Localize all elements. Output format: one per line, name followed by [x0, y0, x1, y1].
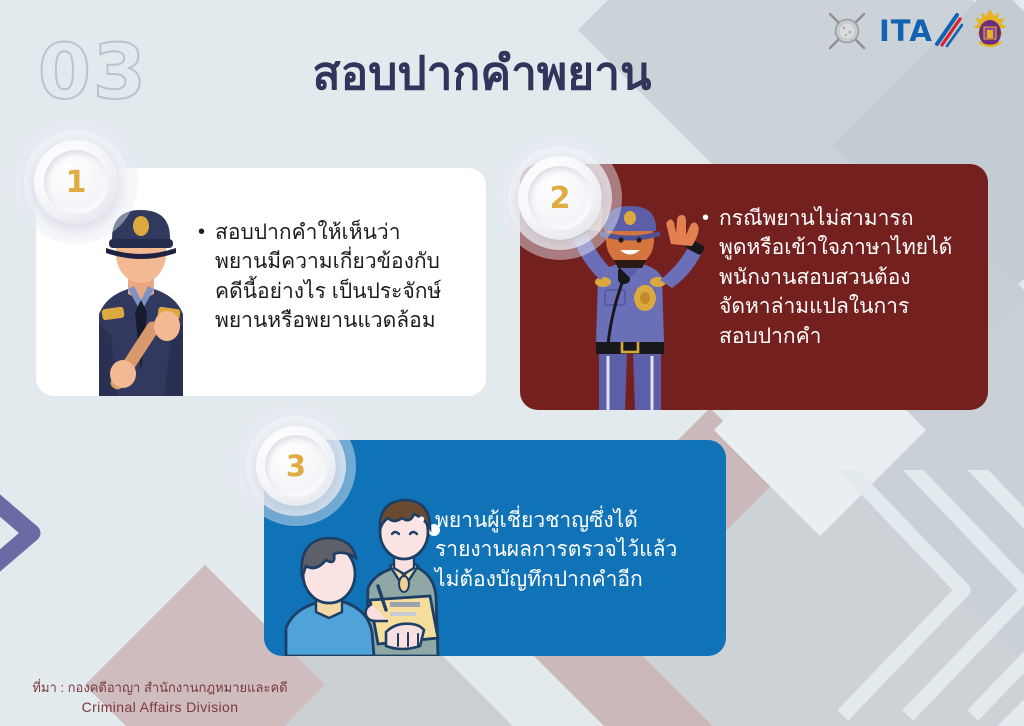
card-1-content: • สอบปากคำให้เห็นว่า พยานมีความเกี่ยวข้อ…: [198, 218, 488, 336]
card-2-content: • กรณีพยานไม่สามารถ พูดหรือเข้าใจภาษาไทย…: [702, 204, 982, 351]
card-2-number-badge: 2: [518, 156, 602, 240]
source-footer-english: Criminal Affairs Division: [10, 697, 310, 718]
card-1-text: สอบปากคำให้เห็นว่า พยานมีความเกี่ยวข้องก…: [215, 218, 441, 336]
chevron-arrows-right-icon: [838, 470, 1024, 720]
card-3-text: พยานผู้เชี่ยวชาญซึ่งได้ รายงานผลการตรวจไ…: [435, 506, 677, 594]
chevron-arrows-left-icon: [0, 398, 182, 668]
card-3-number-badge: 3: [256, 426, 336, 506]
logo-group: ITA: [824, 8, 1008, 59]
source-footer-thai: ที่มา : กองคดีอาญา สำนักงานกฎหมายและคดี: [10, 678, 310, 698]
card-3-content: • พยานผู้เชี่ยวชาญซึ่งได้ รายงานผลการตรว…: [418, 506, 718, 594]
card-1-number: 1: [44, 150, 108, 214]
card-3-bullet: •: [418, 506, 425, 535]
card-2-bullet: •: [702, 204, 709, 233]
royal-crest-logo: [972, 8, 1008, 59]
card-2-number: 2: [528, 166, 592, 230]
slide-root: 03 สอบปากคำพยาน ITA: [0, 0, 1024, 726]
svg-text:ITA: ITA: [879, 14, 933, 48]
card-1-number-badge: 1: [34, 140, 118, 224]
card-2-text: กรณีพยานไม่สามารถ พูดหรือเข้าใจภาษาไทยได…: [719, 204, 952, 351]
card-1-bullet: •: [198, 218, 205, 247]
police-emblem-logo: [824, 8, 870, 59]
source-footer: ที่มา : กองคดีอาญา สำนักงานกฎหมายและคดี …: [10, 678, 310, 719]
police-officer-with-baton-illustration: [66, 196, 216, 396]
card-3-number: 3: [265, 435, 327, 497]
ita-logo: ITA: [879, 11, 963, 56]
